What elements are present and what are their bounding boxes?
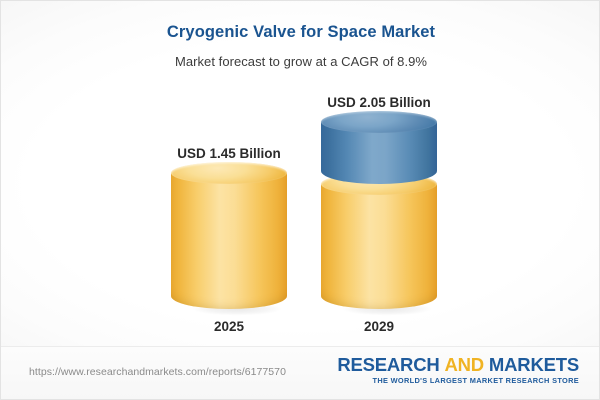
logo-word-markets: MARKETS — [489, 354, 579, 375]
chart-plot-area: USD 1.45 Billion 2025 USD 2.05 Billion — [1, 1, 600, 349]
bar-value-label-2029: USD 2.05 Billion — [291, 95, 467, 110]
category-label-2029: 2029 — [321, 319, 437, 334]
logo-wordmark: RESEARCH AND MARKETS — [337, 355, 579, 374]
cylinder-stack-2025 — [171, 173, 287, 309]
cylinder-top-ellipse — [171, 162, 287, 184]
logo-tagline: THE WORLD'S LARGEST MARKET RESEARCH STOR… — [337, 376, 579, 385]
bar-segment-base-2025[interactable] — [171, 173, 287, 309]
logo-word-and: AND — [444, 354, 483, 375]
bar-segment-base-2029[interactable] — [321, 184, 437, 309]
bar-value-label-2025: USD 1.45 Billion — [141, 146, 317, 161]
cylinder-body — [321, 184, 437, 309]
chart-footer: https://www.researchandmarkets.com/repor… — [1, 347, 600, 399]
cylinder-top-ellipse — [321, 111, 437, 133]
chart-card: Cryogenic Valve for Space Market Market … — [0, 0, 600, 400]
research-and-markets-logo[interactable]: RESEARCH AND MARKETS THE WORLD'S LARGEST… — [337, 355, 579, 385]
cylinder-stack-2029 — [321, 122, 437, 309]
logo-word-research: RESEARCH — [337, 354, 439, 375]
cylinder-body — [171, 173, 287, 309]
report-url[interactable]: https://www.researchandmarkets.com/repor… — [29, 366, 286, 378]
bar-segment-growth-2029[interactable] — [321, 122, 437, 184]
category-label-2025: 2025 — [171, 319, 287, 334]
